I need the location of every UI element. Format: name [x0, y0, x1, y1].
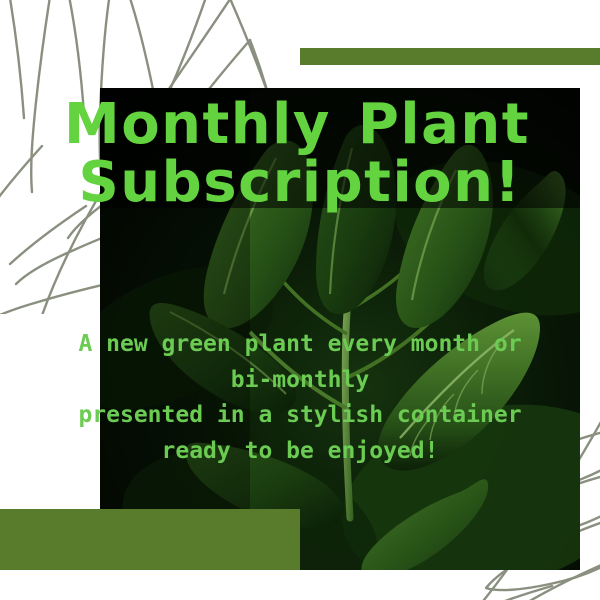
accent-bar-top [300, 48, 600, 65]
poster-canvas: Monthly Plant Subscription! A new green … [0, 0, 600, 600]
body-line-1: A new green plant every month or [0, 327, 600, 363]
body-line-3: presented in a stylish container [0, 398, 600, 434]
headline-line-1: Monthly Plant [0, 96, 600, 154]
body-line-4: ready to be enjoyed! [0, 434, 600, 470]
headline-line-2: Subscription! [0, 154, 600, 212]
body-line-2: bi-monthly [0, 363, 600, 399]
accent-bar-bottom [0, 509, 300, 570]
body-copy: A new green plant every month or bi-mont… [0, 327, 600, 470]
page-title: Monthly Plant Subscription! [0, 96, 600, 211]
